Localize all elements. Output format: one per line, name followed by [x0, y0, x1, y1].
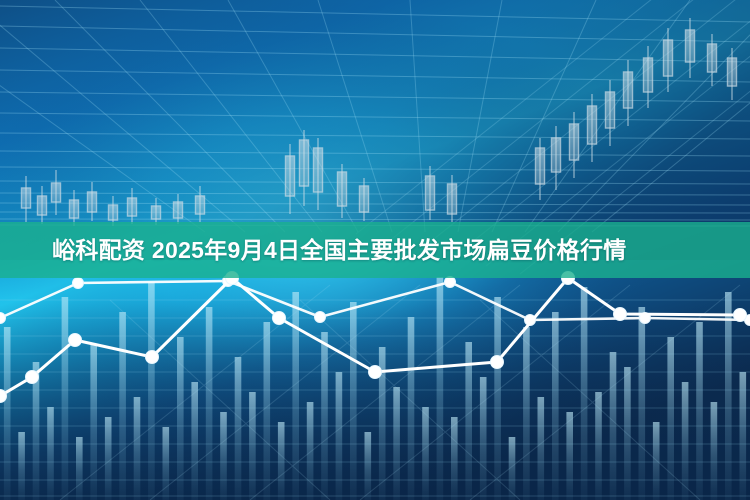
price-point-marker — [0, 313, 6, 324]
price-point-marker — [369, 366, 382, 379]
price-point-marker — [445, 277, 456, 288]
price-point-marker — [315, 312, 326, 323]
price-point-marker — [614, 308, 627, 321]
price-point-marker — [26, 371, 39, 384]
price-point-marker — [273, 312, 286, 325]
price-point-marker — [491, 356, 504, 369]
page-title: 峪科配资 2025年9月4日全国主要批发市场扁豆价格行情 — [0, 239, 627, 262]
main-price-markers — [0, 272, 747, 403]
banner-image: 峪科配资 2025年9月4日全国主要批发市场扁豆价格行情 — [0, 0, 750, 500]
price-point-marker — [69, 334, 82, 347]
title-banner: 峪科配资 2025年9月4日全国主要批发市场扁豆价格行情 — [0, 222, 750, 278]
price-point-marker — [146, 351, 159, 364]
price-point-marker — [734, 309, 747, 322]
main-price-polyline — [0, 278, 740, 396]
price-point-marker — [73, 278, 84, 289]
